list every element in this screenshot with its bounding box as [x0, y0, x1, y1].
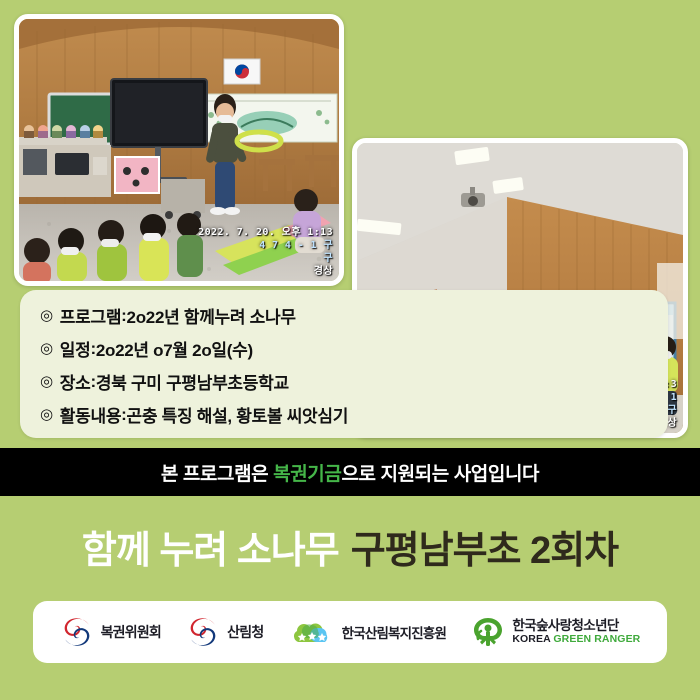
- info-value-location: 경북 구미 구평남부초등학교: [96, 369, 289, 394]
- logo-label-lottery-commission: 복권위원회: [101, 622, 161, 642]
- photo-1-timestamp: 2022. 7. 20. 오후 1:13 4 7 4 - 1 구 구 경상: [198, 226, 333, 278]
- bullet-icon: ◎: [40, 341, 53, 356]
- photo-1-coordinate: 4 7 4 - 1 구: [198, 239, 333, 252]
- logo-label-forest-welfare-institute: 한국산림복지진흥원: [342, 622, 447, 642]
- logo-label-green-ranger-en: KOREA GREEN RANGER: [512, 634, 640, 645]
- photo-1-datetime: 2022. 7. 20. 오후 1:13: [198, 226, 333, 239]
- funding-banner: 본 프로그램은 복권기금으로 지원되는 사업입니다: [0, 448, 700, 496]
- program-info-panel: ◎ 프로그램 : 2o22년 함께누려 소나무 ◎ 일정 : 2o22년 o7월…: [20, 290, 668, 438]
- logo-korea-green-ranger: 한국숲사랑청소년단 KOREA GREEN RANGER: [471, 616, 640, 648]
- title-program-name: 함께 누려 소나무: [82, 519, 339, 574]
- info-row-location: ◎ 장소 : 경북 구미 구평남부초등학교: [40, 365, 668, 398]
- logo-label-green-ranger-en-green: GREEN RANGER: [553, 633, 640, 645]
- sponsor-logo-bar: 복권위원회 산림청: [33, 601, 667, 663]
- page-title: 함께 누려 소나무 구평남부초 2회차: [82, 519, 618, 574]
- info-value-activity: 곤충 특징 해설, 황토볼 씨앗심기: [127, 402, 349, 427]
- taegeuk-icon: [186, 615, 220, 649]
- info-label-activity: 활동내용: [60, 402, 121, 427]
- logo-forest-welfare-institute: 한국산림복지진흥원: [289, 616, 447, 648]
- cloud-stars-icon: [289, 616, 335, 648]
- photo-1-coordinate-2: 구: [198, 252, 333, 265]
- bullet-icon: ◎: [40, 407, 53, 422]
- info-row-activity: ◎ 활동내용 : 곤충 특징 해설, 황토볼 씨앗심기: [40, 398, 668, 431]
- logo-text-korea-green-ranger: 한국숲사랑청소년단 KOREA GREEN RANGER: [512, 619, 640, 644]
- green-tree-icon: [471, 616, 505, 648]
- funding-prefix: 본 프로그램은: [161, 464, 273, 485]
- info-value-program: 2o22년 함께누려 소나무: [127, 303, 296, 328]
- info-value-schedule: 2o22년 o7월 2o일(수): [96, 336, 253, 361]
- info-label-program: 프로그램: [60, 303, 121, 328]
- classroom-activity-photo: 2022. 7. 20. 오후 1:13 4 7 4 - 1 구 구 경상: [14, 14, 344, 286]
- funding-suffix: 으로 지원되는 사업입니다: [341, 464, 539, 485]
- promotional-poster: 2022. 7. 20. 오후 1:13 4 7 4 - 1 구 구 경상: [0, 0, 700, 700]
- bullet-icon: ◎: [40, 308, 53, 323]
- logo-label-green-ranger-en-korea: KOREA: [512, 633, 553, 645]
- photo-collage-area: 2022. 7. 20. 오후 1:13 4 7 4 - 1 구 구 경상: [0, 0, 700, 448]
- info-label-schedule: 일정: [60, 336, 91, 361]
- logo-korea-forest-service: 산림청: [186, 615, 263, 649]
- poster-title-band: 함께 누려 소나무 구평남부초 2회차: [0, 496, 700, 596]
- info-label-location: 장소: [60, 369, 91, 394]
- logo-label-green-ranger-ko: 한국숲사랑청소년단: [512, 619, 640, 633]
- logo-label-korea-forest-service: 산림청: [227, 622, 263, 642]
- logo-lottery-commission: 복권위원회: [60, 615, 161, 649]
- photo-1-region: 경상: [198, 265, 333, 278]
- taegeuk-icon: [60, 615, 94, 649]
- info-row-program: ◎ 프로그램 : 2o22년 함께누려 소나무: [40, 299, 668, 332]
- title-school-session: 구평남부초 2회차: [351, 519, 618, 574]
- funding-highlight: 복권기금: [273, 464, 341, 485]
- bullet-icon: ◎: [40, 374, 53, 389]
- funding-banner-text: 본 프로그램은 복권기금으로 지원되는 사업입니다: [161, 459, 539, 486]
- korean-flag-icon: [224, 59, 260, 84]
- info-row-schedule: ◎ 일정 : 2o22년 o7월 2o일(수): [40, 332, 668, 365]
